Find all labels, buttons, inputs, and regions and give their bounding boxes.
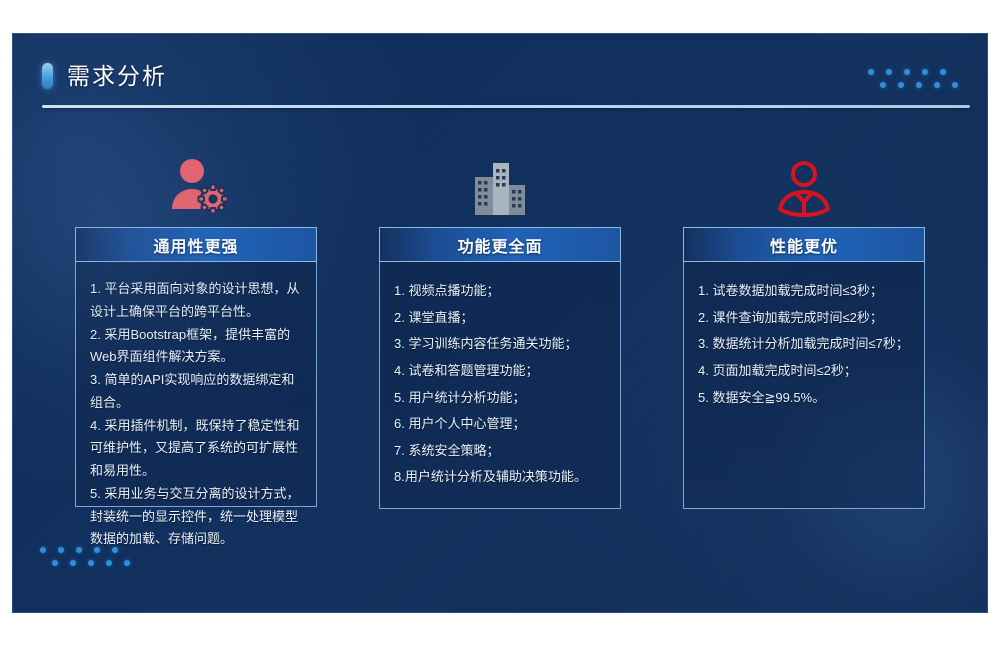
list-item: 6. 用户个人中心管理； xyxy=(394,411,606,438)
dot xyxy=(76,547,82,553)
card-body-features: 1. 视频点播功能； 2. 课堂直播； 3. 学习训练内容任务通关功能； 4. … xyxy=(379,262,621,509)
dot xyxy=(886,69,892,75)
dot xyxy=(106,560,112,566)
card-group: 通用性更强 1. 平台采用面向对象的设计思想，从设计上确保平台的跨平台性。 2.… xyxy=(12,145,988,509)
title-text: 需求分析 xyxy=(67,65,167,88)
slide-canvas: 需求分析 xyxy=(12,33,988,613)
dot xyxy=(58,547,64,553)
dot xyxy=(952,82,958,88)
list-item: 4. 采用插件机制，既保持了稳定性和可维护性，又提高了系统的可扩展性和易用性。 xyxy=(90,415,302,483)
card-body-performance: 1. 试卷数据加载完成时间≤3秒； 2. 课件查询加载完成时间≤2秒； 3. 数… xyxy=(683,262,925,509)
office-buildings-icon xyxy=(379,145,621,217)
list-item: 1. 视频点播功能； xyxy=(394,278,606,305)
dot xyxy=(934,82,940,88)
list-item: 8.用户统计分析及辅助决策功能。 xyxy=(394,464,606,491)
dot-row xyxy=(52,560,130,566)
list-item: 1. 平台采用面向对象的设计思想，从设计上确保平台的跨平台性。 xyxy=(90,278,302,324)
dot xyxy=(922,69,928,75)
dot xyxy=(880,82,886,88)
list-item: 4. 页面加载完成时间≤2秒； xyxy=(698,358,910,385)
card-header-features: 功能更全面 xyxy=(379,227,621,262)
title-divider xyxy=(42,105,970,108)
card-body-generality: 1. 平台采用面向对象的设计思想，从设计上确保平台的跨平台性。 2. 采用Boo… xyxy=(75,262,317,507)
list-item: 5. 用户统计分析功能； xyxy=(394,385,606,412)
dot xyxy=(940,69,946,75)
card-generality: 通用性更强 1. 平台采用面向对象的设计思想，从设计上确保平台的跨平台性。 2.… xyxy=(75,145,317,509)
list-item: 1. 试卷数据加载完成时间≤3秒； xyxy=(698,278,910,305)
dot-row xyxy=(880,82,958,88)
dot xyxy=(898,82,904,88)
card-header-generality: 通用性更强 xyxy=(75,227,317,262)
card-performance: 性能更优 1. 试卷数据加载完成时间≤3秒； 2. 课件查询加载完成时间≤2秒；… xyxy=(683,145,925,509)
list-item: 3. 学习训练内容任务通关功能； xyxy=(394,331,606,358)
list-item: 5. 数据安全≧99.5%。 xyxy=(698,385,910,412)
list-item: 2. 课堂直播； xyxy=(394,305,606,332)
dot-row xyxy=(868,69,958,75)
list-item: 2. 课件查询加载完成时间≤2秒； xyxy=(698,305,910,332)
dot xyxy=(124,560,130,566)
list-item: 4. 试卷和答题管理功能； xyxy=(394,358,606,385)
user-gear-icon xyxy=(75,145,317,217)
card-features: 功能更全面 1. 视频点播功能； 2. 课堂直播； 3. 学习训练内容任务通关功… xyxy=(379,145,621,509)
page-title: 需求分析 xyxy=(42,63,167,89)
dot xyxy=(904,69,910,75)
dot xyxy=(70,560,76,566)
list-item: 3. 简单的API实现响应的数据绑定和组合。 xyxy=(90,369,302,415)
list-item: 5. 采用业务与交互分离的设计方式，封装统一的显示控件，统一处理模型数据的加载、… xyxy=(90,483,302,551)
list-item: 7. 系统安全策略； xyxy=(394,438,606,465)
dot xyxy=(52,560,58,566)
dot xyxy=(868,69,874,75)
dot xyxy=(916,82,922,88)
business-person-icon xyxy=(683,145,925,217)
list-item: 2. 采用Bootstrap框架，提供丰富的Web界面组件解决方案。 xyxy=(90,324,302,370)
list-item: 3. 数据统计分析加载完成时间≤7秒； xyxy=(698,331,910,358)
dot xyxy=(40,547,46,553)
title-pill-marker xyxy=(42,63,53,89)
card-header-performance: 性能更优 xyxy=(683,227,925,262)
dot xyxy=(88,560,94,566)
dot-grid-top-right xyxy=(868,69,958,88)
